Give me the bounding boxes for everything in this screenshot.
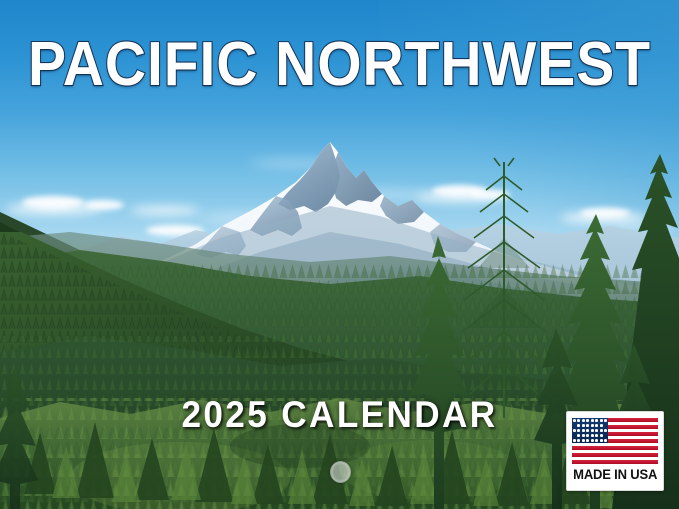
conifer-left-edge: [0, 368, 38, 509]
united-states-flag-icon: [572, 418, 658, 464]
flag-canton: [572, 418, 608, 443]
page-title: PACIFIC NORTHWEST: [27, 34, 652, 96]
made-in-usa-label: MADE IN USA: [573, 467, 657, 481]
flag-stars: [572, 418, 608, 443]
made-in-usa-badge: MADE IN USA: [566, 411, 664, 491]
conifer-mid-right: [410, 236, 468, 509]
hanging-hole-grommet: [330, 461, 351, 483]
calendar-cover: PACIFIC NORTHWEST 2025 CALENDAR: [0, 0, 679, 509]
